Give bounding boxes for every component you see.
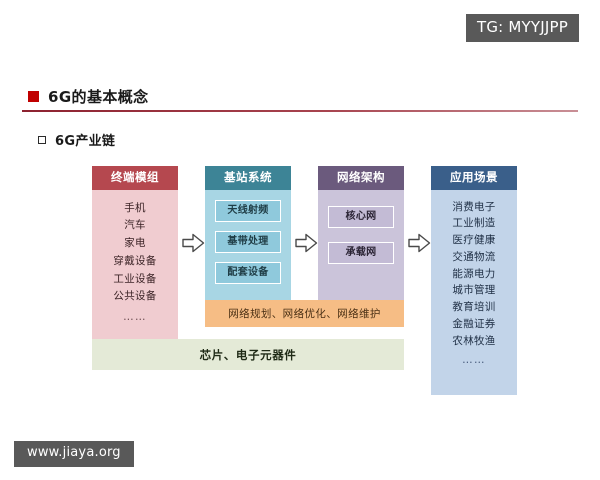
site-watermark: www.jiaya.org <box>14 441 134 467</box>
list-item: 工业制造 <box>452 216 495 232</box>
slide-canvas: TG: MYYJJPP 6G的基本概念 6G产业链 终端模组 手机 汽车 家电 … <box>0 0 600 480</box>
list-item: 医疗健康 <box>452 233 495 249</box>
list-item: 能源电力 <box>452 267 495 283</box>
chip-item: 承载网 <box>328 242 394 264</box>
column-body-terminal-modules: 手机 汽车 家电 穿戴设备 工业设备 公共设备 …… <box>92 190 178 352</box>
arrow-right-icon <box>180 230 206 256</box>
list-item: 公共设备 <box>113 289 156 305</box>
list-item: 交通物流 <box>452 250 495 266</box>
chip-item: 配套设备 <box>215 262 281 284</box>
arrow-right-icon <box>293 230 319 256</box>
list-item: 家电 <box>124 236 146 252</box>
column-header-base-station-system: 基站系统 <box>205 166 291 190</box>
list-item: 消费电子 <box>452 200 495 216</box>
list-ellipsis: …… <box>123 311 147 323</box>
list-item: 农林牧渔 <box>452 334 495 350</box>
chip-item: 天线射频 <box>215 200 281 222</box>
support-bar-chips-components: 芯片、电子元器件 <box>92 339 404 370</box>
column-header-terminal-modules: 终端模组 <box>92 166 178 190</box>
chain-column-application-scenarios: 应用场景 消费电子 工业制造 医疗健康 交通物流 能源电力 城市管理 教育培训 … <box>431 166 517 395</box>
list-item: 金融证券 <box>452 317 495 333</box>
list-item: 教育培训 <box>452 300 495 316</box>
list-ellipsis: …… <box>462 354 486 366</box>
arrow-right-icon <box>406 230 432 256</box>
list-item: 城市管理 <box>452 283 495 299</box>
chip-item: 核心网 <box>328 206 394 228</box>
list-item: 穿戴设备 <box>113 254 156 270</box>
support-bar-network-services: 网络规划、网络优化、网络维护 <box>205 300 404 327</box>
column-body-network-architecture: 核心网 承载网 <box>318 190 404 317</box>
column-body-application-scenarios: 消费电子 工业制造 医疗健康 交通物流 能源电力 城市管理 教育培训 金融证券 … <box>431 190 517 395</box>
chain-column-base-station-system: 基站系统 天线射频 基带处理 配套设备 <box>205 166 291 317</box>
chain-column-terminal-modules: 终端模组 手机 汽车 家电 穿戴设备 工业设备 公共设备 …… <box>92 166 178 352</box>
column-body-base-station-system: 天线射频 基带处理 配套设备 <box>205 190 291 317</box>
chain-column-network-architecture: 网络架构 核心网 承载网 <box>318 166 404 317</box>
list-item: 手机 <box>124 201 146 217</box>
chip-item: 基带处理 <box>215 231 281 253</box>
list-item: 工业设备 <box>113 272 156 288</box>
column-header-application-scenarios: 应用场景 <box>431 166 517 190</box>
list-item: 汽车 <box>124 218 146 234</box>
value-chain-diagram: 终端模组 手机 汽车 家电 穿戴设备 工业设备 公共设备 …… 基站系统 天线射… <box>0 0 600 480</box>
column-header-network-architecture: 网络架构 <box>318 166 404 190</box>
